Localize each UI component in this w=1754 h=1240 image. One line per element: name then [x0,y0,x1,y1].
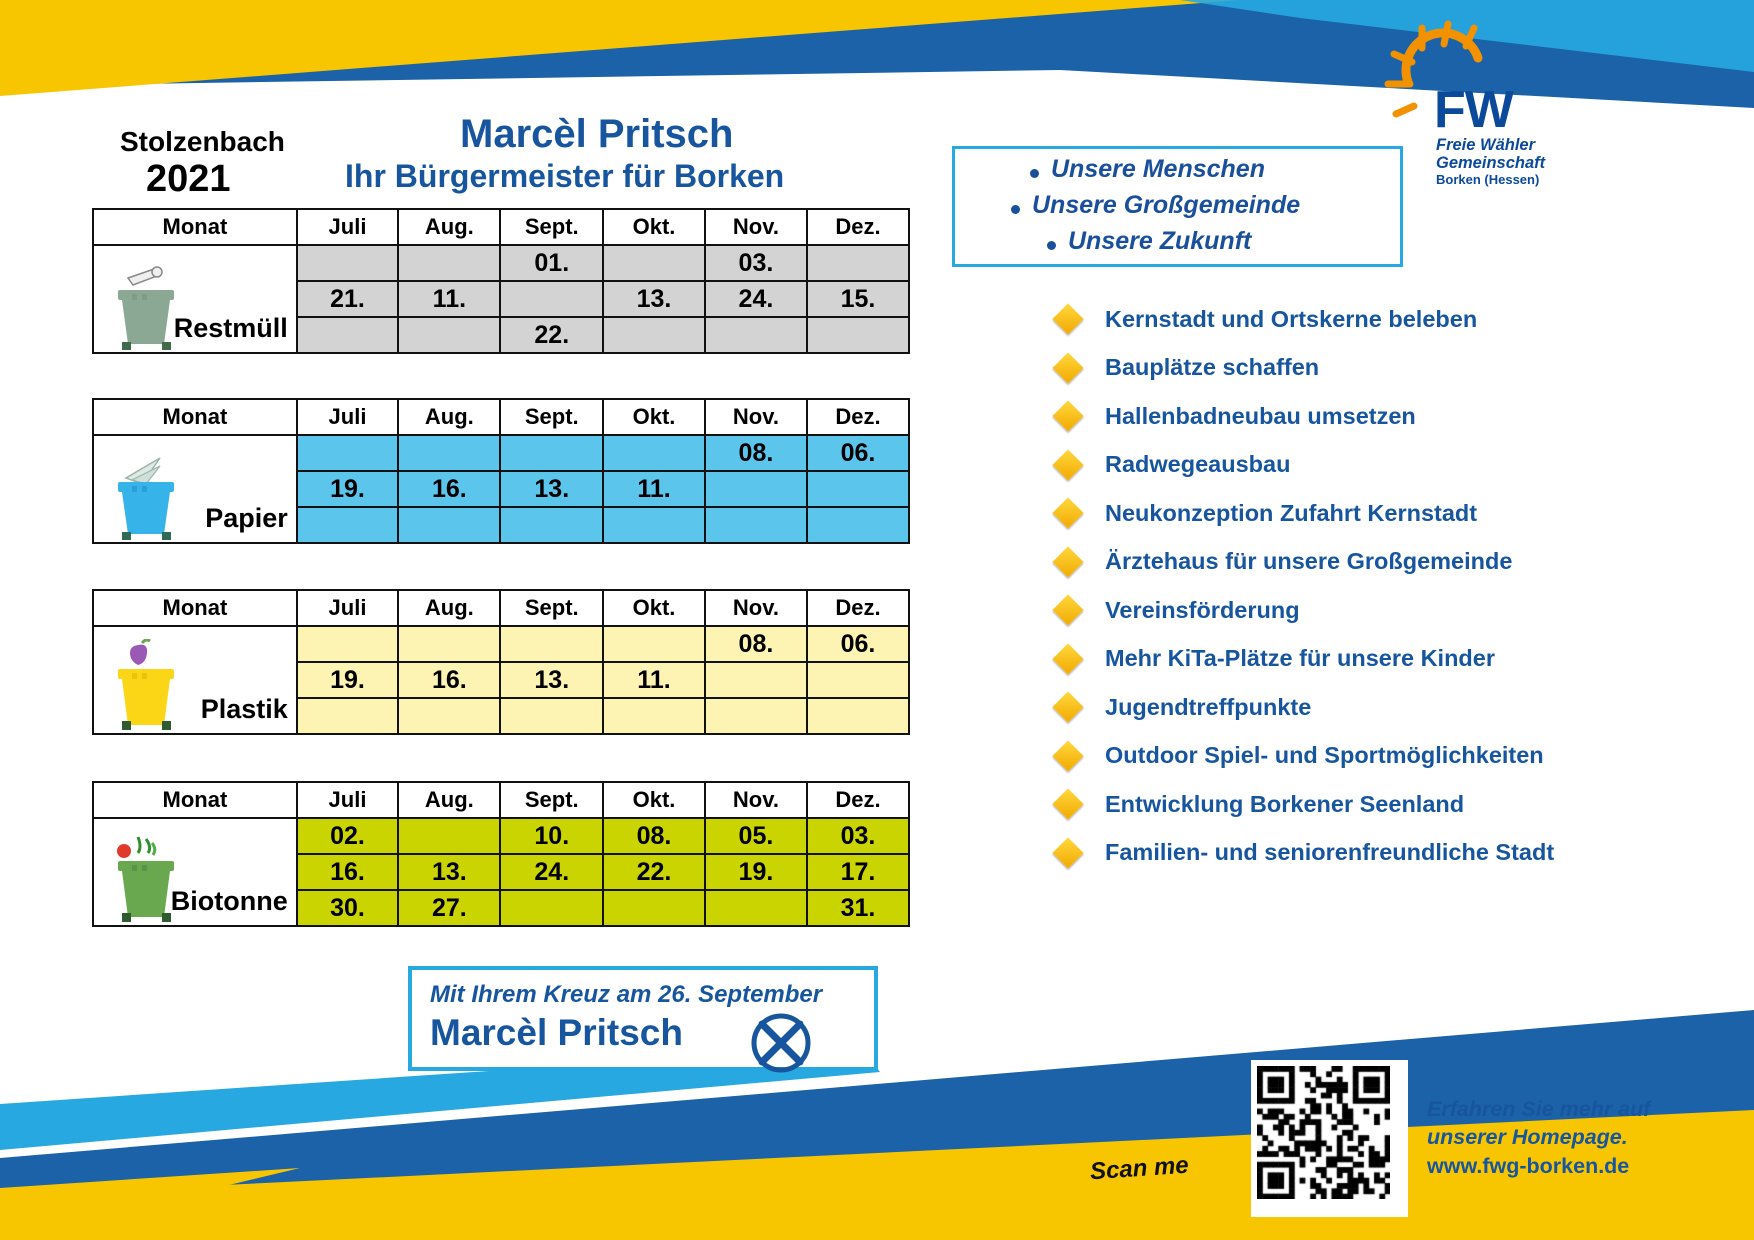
pickup-date-cell [807,471,909,507]
pickup-date-cell [705,471,807,507]
waste-table-papier: MonatJuliAug.Sept.Okt.Nov.Dez. Papier08.… [92,398,910,544]
column-header-month: Dez. [807,590,909,626]
column-header-month: Aug. [398,209,500,245]
slogan-item-1: Unsere Menschen [1051,155,1265,184]
bin-label: Papier [205,503,288,534]
goal-label: Jugendtreffpunkte [1105,694,1311,721]
column-header-month: Okt. [603,590,705,626]
pickup-date-cell: 11. [603,471,705,507]
goal-label: Outdoor Spiel- und Sportmöglichkeiten [1105,742,1544,769]
fw-line1: Freie Wähler [1436,136,1535,155]
goal-label: Ärztehaus für unsere Großgemeinde [1105,548,1512,575]
goal-item-4: Radwegeausbau [1055,441,1695,490]
goal-item-12: Familien- und seniorenfreundliche Stadt [1055,829,1695,878]
pickup-date-cell [807,507,909,543]
pickup-date-cell [807,245,909,281]
column-header-month: Okt. [603,209,705,245]
pickup-date-cell: 13. [603,281,705,317]
pickup-date-cell [807,662,909,698]
pickup-date-cell: 06. [807,435,909,471]
diamond-bullet-icon [1052,498,1083,529]
blue-bin-icon [108,448,186,540]
bin-label: Restmüll [174,313,288,344]
pickup-date-cell: 08. [705,626,807,662]
pickup-date-cell: 19. [297,662,398,698]
pickup-date-cell: 21. [297,281,398,317]
pickup-date-cell [603,435,705,471]
year-title: 2021 [146,158,231,201]
column-header-month: Nov. [705,782,807,818]
slogan-bullet [1011,205,1020,214]
pickup-date-cell [297,626,398,662]
yellow-bin-icon [108,639,186,731]
pickup-date-cell [603,626,705,662]
vote-date-text: Mit Ihrem Kreuz am 26. September [430,981,822,1009]
bin-label: Plastik [201,694,288,725]
slogan-item-2: Unsere Großgemeinde [1032,191,1300,220]
diamond-bullet-icon [1052,692,1083,723]
column-header-monat: Monat [93,209,297,245]
pickup-date-cell: 22. [603,854,705,890]
column-header-month: Aug. [398,399,500,435]
pickup-date-cell: 31. [807,890,909,926]
goal-list: Kernstadt und Ortskerne belebenBauplätze… [1055,295,1695,877]
poster-canvas: FW Freie Wähler Gemeinschaft Borken (Hes… [0,0,1754,1240]
pickup-date-cell: 19. [297,471,398,507]
table-header-row: MonatJuliAug.Sept.Okt.Nov.Dez. [93,782,909,818]
column-header-month: Sept. [500,399,603,435]
goal-item-11: Entwicklung Borkener Seenland [1055,780,1695,829]
blue-bin-icon [108,448,186,540]
candidate-name: Marcèl Pritsch [460,112,733,157]
pickup-date-cell [297,317,398,353]
bin-label: Biotonne [171,886,288,917]
pickup-date-cell [603,317,705,353]
pickup-date-cell [297,435,398,471]
homepage-url[interactable]: www.fwg-borken.de [1427,1152,1650,1180]
homepage-line1: Erfahren Sie mehr auf [1427,1095,1650,1123]
pickup-date-cell [500,435,603,471]
column-header-month: Juli [297,782,398,818]
pickup-date-cell: 11. [398,281,500,317]
column-header-month: Juli [297,209,398,245]
homepage-line2: unserer Homepage. [1427,1123,1650,1151]
column-header-month: Sept. [500,209,603,245]
diamond-bullet-icon [1052,740,1083,771]
column-header-month: Okt. [603,782,705,818]
goal-item-8: Mehr KiTa-Plätze für unsere Kinder [1055,635,1695,684]
column-header-month: Sept. [500,590,603,626]
column-header-month: Nov. [705,590,807,626]
pickup-date-cell: 10. [500,818,603,854]
scan-me-label: Scan me [1089,1152,1189,1187]
pickup-date-cell: 24. [705,281,807,317]
pickup-date-cell [297,507,398,543]
goal-label: Kernstadt und Ortskerne beleben [1105,306,1477,333]
column-header-month: Okt. [603,399,705,435]
pickup-date-cell [500,281,603,317]
fw-line2: Gemeinschaft [1436,154,1545,173]
column-header-month: Aug. [398,782,500,818]
vote-box: Mit Ihrem Kreuz am 26. September Marcèl … [408,966,878,1071]
pickup-date-cell: 13. [500,471,603,507]
pickup-date-cell [398,507,500,543]
pickup-date-cell: 19. [705,854,807,890]
candidate-subtitle: Ihr Bürgermeister für Borken [345,158,784,195]
pickup-date-cell [705,317,807,353]
pickup-date-cell [398,317,500,353]
goal-label: Radwegeausbau [1105,451,1290,478]
goal-item-9: Jugendtreffpunkte [1055,683,1695,732]
diamond-bullet-icon [1052,352,1083,383]
diamond-bullet-icon [1052,546,1083,577]
bin-cell-papier: Papier [93,435,297,543]
column-header-month: Dez. [807,782,909,818]
pickup-date-cell: 22. [500,317,603,353]
pickup-date-cell [603,507,705,543]
pickup-date-cell [500,507,603,543]
pickup-date-cell [807,698,909,734]
column-header-month: Juli [297,590,398,626]
bin-cell-biotonne: Biotonne [93,818,297,926]
pickup-date-cell [603,245,705,281]
column-header-monat: Monat [93,782,297,818]
pickup-date-cell [500,626,603,662]
column-header-month: Nov. [705,399,807,435]
pickup-date-cell: 27. [398,890,500,926]
goal-label: Familien- und seniorenfreundliche Stadt [1105,839,1554,866]
goal-item-10: Outdoor Spiel- und Sportmöglichkeiten [1055,732,1695,781]
column-header-month: Dez. [807,399,909,435]
circled-x-icon [750,1012,812,1074]
pickup-date-cell [398,698,500,734]
column-header-month: Aug. [398,590,500,626]
pickup-date-cell: 08. [603,818,705,854]
pickup-date-cell [705,662,807,698]
table-row: Biotonne02.10.08.05.03. [93,818,909,854]
slogan-bullet [1047,241,1056,250]
column-header-month: Sept. [500,782,603,818]
pickup-date-cell [705,507,807,543]
yellow-bin-icon [108,639,186,731]
goal-label: Hallenbadneubau umsetzen [1105,403,1416,430]
goal-item-7: Vereinsförderung [1055,586,1695,635]
fw-line3: Borken (Hessen) [1436,172,1539,187]
diamond-bullet-icon [1052,595,1083,626]
pickup-date-cell [398,245,500,281]
column-header-month: Nov. [705,209,807,245]
goal-item-5: Neukonzeption Zufahrt Kernstadt [1055,489,1695,538]
goal-item-6: Ärztehaus für unsere Großgemeinde [1055,538,1695,587]
pickup-date-cell: 16. [398,662,500,698]
slogan-box: Unsere Menschen Unsere Großgemeinde Unse… [952,146,1403,267]
pickup-date-cell: 13. [398,854,500,890]
pickup-date-cell: 13. [500,662,603,698]
goal-item-3: Hallenbadneubau umsetzen [1055,392,1695,441]
place-title: Stolzenbach [120,126,285,158]
pickup-date-cell: 24. [500,854,603,890]
pickup-date-cell: 06. [807,626,909,662]
fw-initials: FW [1434,80,1513,140]
diamond-bullet-icon [1052,304,1083,335]
goal-label: Entwicklung Borkener Seenland [1105,791,1464,818]
goal-item-1: Kernstadt und Ortskerne beleben [1055,295,1695,344]
waste-table-biotonne: MonatJuliAug.Sept.Okt.Nov.Dez. Biotonne0… [92,781,910,927]
pickup-date-cell: 11. [603,662,705,698]
goal-label: Bauplätze schaffen [1105,354,1319,381]
pickup-date-cell: 05. [705,818,807,854]
pickup-date-cell [807,317,909,353]
pickup-date-cell: 17. [807,854,909,890]
pickup-date-cell: 08. [705,435,807,471]
diamond-bullet-icon [1052,643,1083,674]
goal-item-2: Bauplätze schaffen [1055,344,1695,393]
diamond-bullet-icon [1052,401,1083,432]
column-header-monat: Monat [93,399,297,435]
pickup-date-cell: 15. [807,281,909,317]
column-header-month: Dez. [807,209,909,245]
table-row: Plastik08.06. [93,626,909,662]
diamond-bullet-icon [1052,789,1083,820]
waste-table-restmuell: MonatJuliAug.Sept.Okt.Nov.Dez. Restmüll0… [92,208,910,354]
column-header-month: Juli [297,399,398,435]
diamond-bullet-icon [1052,837,1083,868]
pickup-date-cell: 03. [705,245,807,281]
pickup-date-cell [603,890,705,926]
goal-label: Vereinsförderung [1105,597,1300,624]
table-header-row: MonatJuliAug.Sept.Okt.Nov.Dez. [93,399,909,435]
table-row: Restmüll01.03. [93,245,909,281]
diamond-bullet-icon [1052,449,1083,480]
table-row: Papier08.06. [93,435,909,471]
fw-logo: FW Freie Wähler Gemeinschaft Borken (Hes… [1382,18,1582,176]
goal-label: Mehr KiTa-Plätze für unsere Kinder [1105,645,1495,672]
bin-cell-restmuell: Restmüll [93,245,297,353]
goal-label: Neukonzeption Zufahrt Kernstadt [1105,500,1477,527]
pickup-date-cell [705,698,807,734]
pickup-date-cell [603,698,705,734]
pickup-date-cell [398,626,500,662]
pickup-date-cell: 01. [500,245,603,281]
pickup-date-cell [398,818,500,854]
waste-table-plastik: MonatJuliAug.Sept.Okt.Nov.Dez. Plastik08… [92,589,910,735]
pickup-date-cell: 16. [297,854,398,890]
pickup-date-cell: 02. [297,818,398,854]
column-header-monat: Monat [93,590,297,626]
bin-cell-plastik: Plastik [93,626,297,734]
pickup-date-cell [297,245,398,281]
vote-candidate-name: Marcèl Pritsch [430,1012,683,1054]
pickup-date-cell [705,890,807,926]
slogan-item-3: Unsere Zukunft [1068,227,1251,256]
qr-code-icon[interactable] [1251,1060,1408,1217]
table-header-row: MonatJuliAug.Sept.Okt.Nov.Dez. [93,590,909,626]
pickup-date-cell [500,890,603,926]
pickup-date-cell [398,435,500,471]
slogan-bullet [1030,169,1039,178]
pickup-date-cell: 03. [807,818,909,854]
pickup-date-cell: 30. [297,890,398,926]
pickup-date-cell [297,698,398,734]
table-header-row: MonatJuliAug.Sept.Okt.Nov.Dez. [93,209,909,245]
homepage-info: Erfahren Sie mehr auf unserer Homepage. … [1427,1095,1650,1180]
pickup-date-cell: 16. [398,471,500,507]
pickup-date-cell [500,698,603,734]
